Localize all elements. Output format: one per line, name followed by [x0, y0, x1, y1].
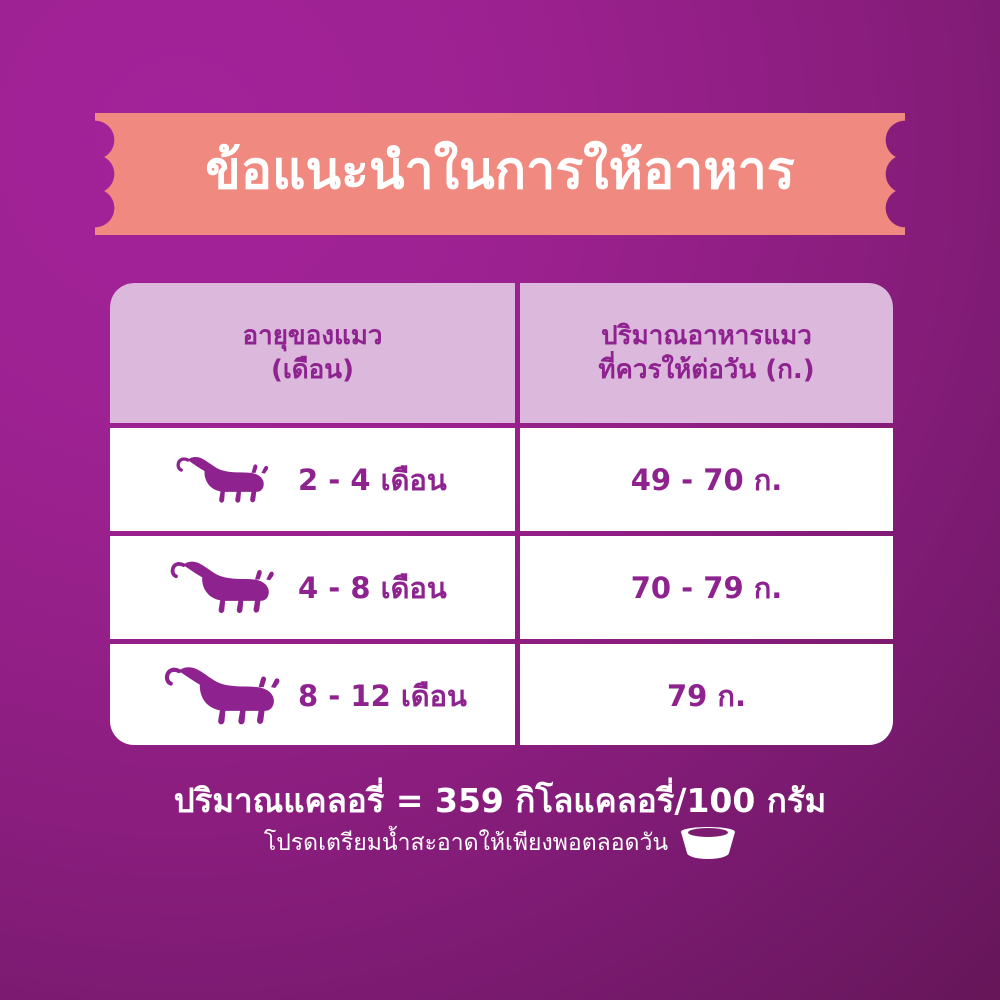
table-cell-age-label: 8 - 12 เดือน	[298, 673, 467, 719]
table-row: 8 - 12 เดือน 79 ก.	[110, 644, 893, 745]
feeding-table: อายุของแมว (เดือน) ปริมาณอาหารแมว ที่ควร…	[110, 283, 893, 745]
table-header-age-line1: อายุของแมว	[242, 319, 382, 353]
table-header-age-line2: (เดือน)	[271, 353, 354, 387]
table-cell-age: 2 - 4 เดือน	[110, 428, 515, 531]
table-row: 4 - 8 เดือน 70 - 79 ก.	[110, 536, 893, 639]
table-cell-amount: 70 - 79 ก.	[520, 536, 893, 639]
table-header-row: อายุของแมว (เดือน) ปริมาณอาหารแมว ที่ควร…	[110, 283, 893, 423]
page-title: ข้อแนะนำในการให้อาหาร	[95, 113, 905, 235]
water-advice-label: โปรดเตรียมน้ำสะอาดให้เพียงพอตลอดวัน	[264, 829, 668, 858]
water-advice: โปรดเตรียมน้ำสะอาดให้เพียงพอตลอดวัน	[0, 827, 1000, 859]
table-cell-amount: 49 - 70 ก.	[520, 428, 893, 531]
table-cell-amount: 79 ก.	[520, 644, 893, 745]
table-row: 2 - 4 เดือน 49 - 70 ก.	[110, 428, 893, 531]
table-header-age: อายุของแมว (เดือน)	[110, 283, 515, 423]
cat-silhouette-icon	[148, 661, 298, 731]
cat-silhouette-icon	[148, 452, 298, 508]
table-header-amount-line1: ปริมาณอาหารแมว	[601, 319, 812, 353]
calorie-info: ปริมาณแคลอรี่ = 359 กิโลแคลอรี่/100 กรัม	[0, 780, 1000, 821]
table-cell-age-label: 4 - 8 เดือน	[298, 565, 447, 611]
cat-silhouette-icon	[148, 556, 298, 619]
ticket-banner: ข้อแนะนำในการให้อาหาร	[95, 113, 905, 235]
table-header-amount-line2: ที่ควรให้ต่อวัน (ก.)	[598, 353, 814, 387]
table-header-amount: ปริมาณอาหารแมว ที่ควรให้ต่อวัน (ก.)	[520, 283, 893, 423]
pet-bowl-icon	[680, 827, 736, 859]
table-cell-age: 8 - 12 เดือน	[110, 644, 515, 745]
table-cell-age-label: 2 - 4 เดือน	[298, 457, 447, 503]
feeding-guide-poster: ข้อแนะนำในการให้อาหาร อายุของแมว (เดือน)…	[0, 0, 1000, 1000]
table-cell-age: 4 - 8 เดือน	[110, 536, 515, 639]
footer: ปริมาณแคลอรี่ = 359 กิโลแคลอรี่/100 กรัม…	[0, 780, 1000, 859]
